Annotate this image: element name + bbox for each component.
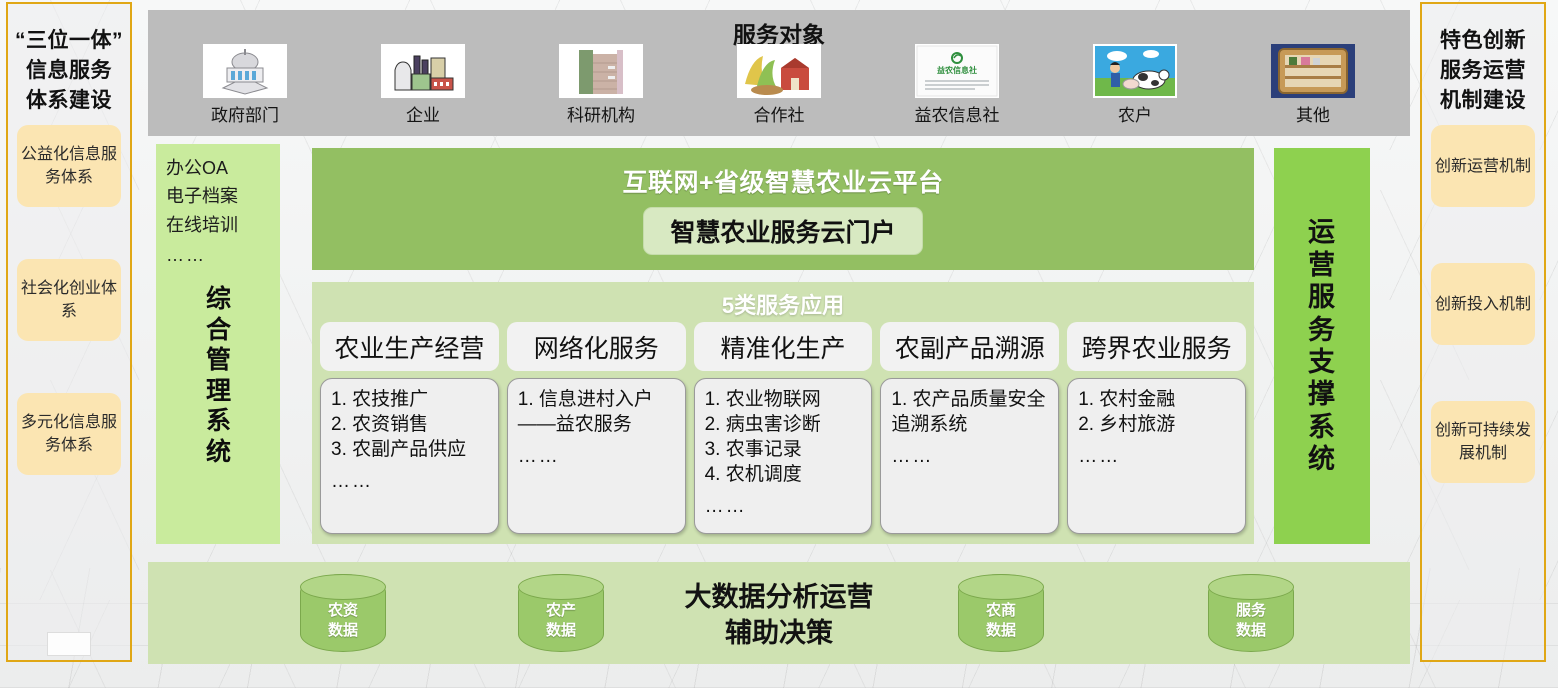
- right-pillar-items: 创新运营机制 创新投入机制 创新可持续发展机制: [1431, 125, 1535, 483]
- app-list-ellipsis: ……: [518, 444, 677, 469]
- left-pillar-item-social-entrepreneurship[interactable]: 社会化创业体系: [17, 259, 121, 341]
- service-object-label: 企业: [348, 101, 498, 126]
- left-pillar-footer-stub: [47, 632, 91, 656]
- app-list-ellipsis: ……: [331, 469, 490, 494]
- service-objects-bar: 服务对象 政府部门: [148, 10, 1410, 136]
- service-object-label: 益农信息社: [882, 101, 1032, 126]
- cloud-platform-header: 互联网+省级智慧农业云平台 智慧农业服务云门户: [312, 148, 1254, 270]
- app-list-item: 4. 农机调度: [705, 462, 864, 487]
- app-detail-list: 1. 信息进村入户——益农服务 ……: [507, 378, 686, 534]
- comprehensive-management-column: 办公OA 电子档案 在线培训 …… 综 合 管 理 系 统: [156, 144, 280, 544]
- app-column-agricultural-production: 农业生产经营 1. 农技推广 2. 农资销售 3. 农副产品供应 ……: [320, 322, 499, 534]
- service-object-farmer[interactable]: 农户: [1060, 44, 1210, 126]
- service-object-yinong-station[interactable]: 益农信息社 益农信息社: [882, 44, 1032, 126]
- oa-line-training: 在线培训: [166, 211, 272, 239]
- service-object-label: 政府部门: [170, 101, 320, 126]
- app-list-item: 1. 农产品质量安全追溯系统: [891, 387, 1050, 437]
- operation-support-system-column: 运 营 服 务 支 撑 系 统: [1274, 148, 1370, 544]
- app-list-ellipsis: ……: [1078, 444, 1237, 469]
- app-list-item: 1. 农村金融: [1078, 387, 1237, 412]
- service-object-label: 合作社: [704, 101, 854, 126]
- database-cylinder-agri-inputs[interactable]: 农资 数据: [300, 574, 386, 652]
- app-list-item: 1. 信息进村入户——益农服务: [518, 387, 677, 437]
- cylinder-top: [958, 574, 1044, 600]
- app-title[interactable]: 农副产品溯源: [880, 322, 1059, 371]
- bigdata-analysis-band: 大数据分析运营 辅助决策 农资 数据 农产 数据 农商 数据: [148, 562, 1410, 664]
- cylinder-top: [1208, 574, 1294, 600]
- app-title[interactable]: 跨界农业服务: [1067, 322, 1246, 371]
- app-list-item: 2. 乡村旅游: [1078, 412, 1237, 437]
- service-applications-title: 5类服务应用: [312, 282, 1254, 320]
- service-object-enterprise[interactable]: 企业: [348, 44, 498, 126]
- government-building-icon: [203, 44, 287, 98]
- service-object-cooperative[interactable]: 合作社: [704, 44, 854, 126]
- app-list-ellipsis: ……: [705, 494, 864, 519]
- app-list-item: 1. 农业物联网: [705, 387, 864, 412]
- service-object-label: 科研机构: [526, 101, 676, 126]
- app-list-item: 2. 病虫害诊断: [705, 412, 864, 437]
- left-pillar-title: “三位一体” 信息服务 体系建设: [10, 26, 128, 115]
- cloud-platform-title: 互联网+省级智慧农业云平台: [622, 163, 943, 199]
- app-list-item: 3. 农副产品供应: [331, 437, 490, 462]
- service-object-government[interactable]: 政府部门: [170, 44, 320, 126]
- app-title[interactable]: 农业生产经营: [320, 322, 499, 371]
- cylinder-label: 农资 数据: [300, 601, 386, 642]
- oa-line-archives: 电子档案: [166, 182, 272, 210]
- app-title[interactable]: 网络化服务: [507, 322, 686, 371]
- app-detail-list: 1. 农产品质量安全追溯系统 ……: [880, 378, 1059, 534]
- cylinder-label: 农商 数据: [958, 601, 1044, 642]
- app-detail-list: 1. 农村金融 2. 乡村旅游 ……: [1067, 378, 1246, 534]
- app-detail-list: 1. 农技推广 2. 农资销售 3. 农副产品供应 ……: [320, 378, 499, 534]
- app-list-item: 3. 农事记录: [705, 437, 864, 462]
- app-column-cross-border-service: 跨界农业服务 1. 农村金融 2. 乡村旅游 ……: [1067, 322, 1246, 534]
- cylinder-top: [518, 574, 604, 600]
- app-column-networked-service: 网络化服务 1. 信息进村入户——益农服务 ……: [507, 322, 686, 534]
- right-pillar-item-investment-mechanism[interactable]: 创新投入机制: [1431, 263, 1535, 345]
- app-column-product-traceability: 农副产品溯源 1. 农产品质量安全追溯系统 ……: [880, 322, 1059, 534]
- right-pillar-innovation-mechanism: 特色创新 服务运营 机制建设 创新运营机制 创新投入机制 创新可持续发展机制: [1420, 2, 1546, 662]
- left-pillar-item-diversified-info[interactable]: 多元化信息服务体系: [17, 393, 121, 475]
- service-object-label: 农户: [1060, 101, 1210, 126]
- research-building-icon: [559, 44, 643, 98]
- right-pillar-title: 特色创新 服务运营 机制建设: [1424, 26, 1542, 115]
- cylinder-top: [300, 574, 386, 600]
- service-applications-row: 农业生产经营 1. 农技推广 2. 农资销售 3. 农副产品供应 …… 网络化服…: [320, 322, 1246, 534]
- operation-support-system-title: 运 营 服 务 支 撑 系 统: [1308, 216, 1336, 475]
- farmer-cow-icon: [1093, 44, 1177, 98]
- service-object-other[interactable]: 其他: [1238, 44, 1388, 126]
- cylinder-label: 服务 数据: [1208, 601, 1294, 642]
- shelf-other-icon: [1271, 44, 1355, 98]
- factory-icon: [381, 44, 465, 98]
- database-cylinder-agri-commerce[interactable]: 农商 数据: [958, 574, 1044, 652]
- app-list-item: 1. 农技推广: [331, 387, 490, 412]
- service-applications-panel: 5类服务应用 农业生产经营 1. 农技推广 2. 农资销售 3. 农副产品供应 …: [312, 282, 1254, 544]
- left-pillar-three-in-one: “三位一体” 信息服务 体系建设 公益化信息服务体系 社会化创业体系 多元化信息…: [6, 2, 132, 662]
- app-list-ellipsis: ……: [891, 444, 1050, 469]
- service-object-research-institute[interactable]: 科研机构: [526, 44, 676, 126]
- app-title[interactable]: 精准化生产: [694, 322, 873, 371]
- app-column-precision-production: 精准化生产 1. 农业物联网 2. 病虫害诊断 3. 农事记录 4. 农机调度 …: [694, 322, 873, 534]
- comprehensive-management-title: 综 合 管 理 系 统: [166, 284, 272, 467]
- service-object-label: 其他: [1238, 101, 1388, 126]
- database-cylinder-agri-output[interactable]: 农产 数据: [518, 574, 604, 652]
- service-cloud-portal-button[interactable]: 智慧农业服务云门户: [643, 207, 922, 255]
- oa-line-office: 办公OA: [166, 154, 272, 182]
- left-pillar-item-public-welfare[interactable]: 公益化信息服务体系: [17, 125, 121, 207]
- service-objects-row: 政府部门 企业: [156, 44, 1402, 126]
- app-detail-list: 1. 农业物联网 2. 病虫害诊断 3. 农事记录 4. 农机调度 ……: [694, 378, 873, 534]
- svg-text:益农信息社: 益农信息社: [937, 65, 977, 75]
- cooperative-farm-icon: [737, 44, 821, 98]
- app-list-item: 2. 农资销售: [331, 412, 490, 437]
- database-cylinder-service[interactable]: 服务 数据: [1208, 574, 1294, 652]
- cylinder-label: 农产 数据: [518, 601, 604, 642]
- right-pillar-item-operation-mechanism[interactable]: 创新运营机制: [1431, 125, 1535, 207]
- yinong-information-station-icon: 益农信息社: [915, 44, 999, 98]
- left-pillar-items: 公益化信息服务体系 社会化创业体系 多元化信息服务体系: [17, 125, 121, 475]
- oa-ellipsis: ……: [166, 245, 272, 266]
- right-pillar-item-sustainable-mechanism[interactable]: 创新可持续发展机制: [1431, 401, 1535, 483]
